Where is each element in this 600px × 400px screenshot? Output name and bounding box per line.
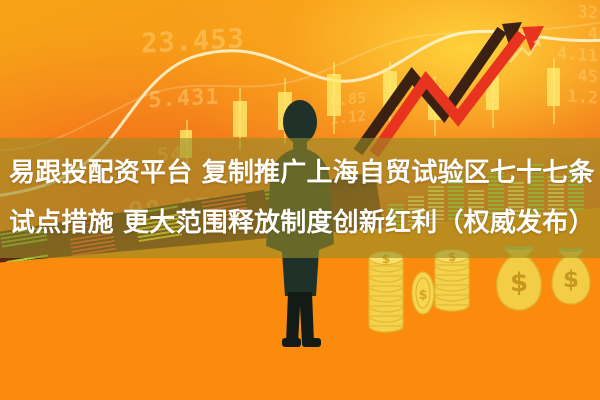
coin-single-icon: $ <box>410 270 436 316</box>
money-bag-dollar-symbol: $ <box>563 267 579 293</box>
coin-stack-icon: $ <box>366 248 406 336</box>
money-bag-dollar-symbol: $ <box>510 268 528 298</box>
headline-line-2: 试点措施 更大范围释放制度创新红利（权威发布） <box>9 198 591 248</box>
candlestick <box>233 101 247 137</box>
article-thumbnail: 23.453 5.431 54 98.675 874.345 5.309 2.3… <box>0 0 600 400</box>
arrow-up-trend-icon <box>352 18 600 158</box>
coin-dollar-symbol: $ <box>418 288 427 303</box>
headline-line-1: 易跟投配资平台 复制推广上海自贸试验区七十七条 <box>9 148 591 198</box>
headline: 易跟投配资平台 复制推广上海自贸试验区七十七条 试点措施 更大范围释放制度创新红… <box>0 138 600 258</box>
arrow-up-small-icon <box>508 36 542 64</box>
